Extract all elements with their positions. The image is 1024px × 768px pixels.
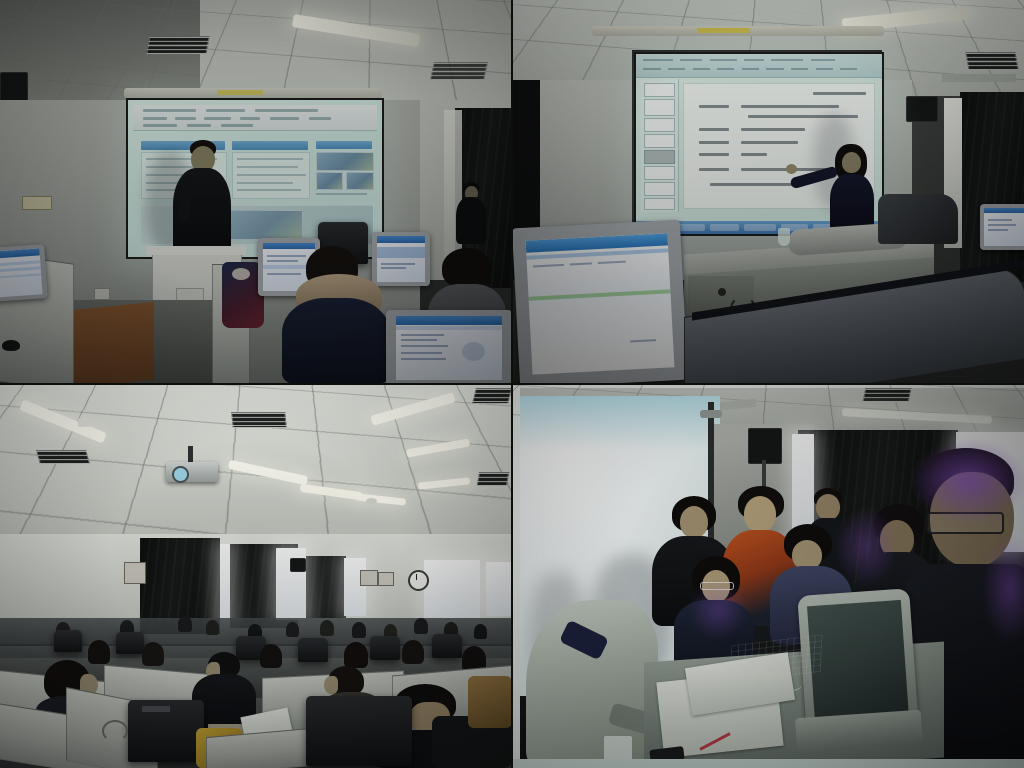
presenter-male: [170, 140, 232, 260]
standing-person-right: [455, 182, 487, 244]
text-line: [598, 261, 626, 264]
footer-thumbnail: [225, 210, 303, 240]
wood-floor-strip: [72, 302, 154, 384]
document-label: [699, 153, 729, 156]
text-line: [401, 339, 437, 341]
student-silhouette: [286, 622, 299, 637]
ceiling-vent-icon: [146, 36, 209, 54]
window-titlebar: [377, 236, 426, 242]
student-silhouette: [320, 620, 334, 636]
student-foreground-hooded: [282, 246, 392, 384]
head: [842, 152, 861, 173]
document-label: [699, 105, 729, 108]
photo-top-right: [512, 0, 1024, 384]
wall-socket-icon: [22, 196, 52, 210]
wall-socket-small-icon: [94, 288, 110, 300]
slide-thumbnail: [644, 134, 675, 148]
content-header-right: [232, 141, 308, 150]
torso: [526, 600, 658, 768]
ceiling-vent-icon: [231, 412, 287, 428]
wall-picture-frame: [124, 562, 146, 584]
ceiling-vent-strip: [942, 74, 1016, 82]
student-head: [402, 640, 424, 664]
foreground-monitor: [512, 220, 688, 384]
document-heading: [813, 92, 866, 95]
purple-rim-light-2: [982, 534, 1024, 644]
photo-frame-left: [512, 384, 520, 768]
window-icon: [486, 562, 512, 616]
crt-monitor-back: [298, 638, 328, 662]
hand: [786, 164, 797, 174]
document-label: [699, 128, 729, 131]
monitor-screen: [396, 316, 502, 380]
text-line: [988, 229, 1008, 231]
ceiling-vent-icon: [965, 52, 1018, 70]
monitor-screen: [526, 233, 674, 375]
text-line: [401, 334, 443, 336]
content-band: [0, 267, 41, 273]
text-line: [630, 339, 655, 342]
toolbar: [396, 326, 502, 330]
document-line: [741, 105, 840, 108]
purple-rim-light-4: [688, 580, 748, 640]
curtain-side: [306, 556, 346, 618]
ceiling-vent-2-icon: [430, 62, 488, 80]
side-monitor: [980, 204, 1024, 250]
text-line: [237, 182, 293, 184]
projection-screen-case: [124, 88, 382, 98]
student-silhouette: [206, 620, 219, 635]
projector-lens-icon: [172, 466, 189, 483]
browser-chrome: [133, 105, 377, 131]
slide-thumbnail: [644, 198, 675, 211]
mouse-icon: [2, 340, 20, 351]
text-line: [570, 263, 593, 266]
photo-frame-bottom: [512, 759, 1024, 768]
podium-top: [146, 246, 246, 255]
window-titlebar: [0, 249, 40, 259]
text-line: [533, 264, 564, 268]
ceiling-vent-icon: [863, 388, 912, 402]
text-line: [237, 174, 306, 176]
equipment-box: [878, 194, 958, 244]
smoke-detector-icon: [366, 498, 377, 504]
wall-picture-frame-3: [378, 572, 394, 586]
thumbnail-image: [346, 172, 373, 190]
crt-monitor-back: [370, 636, 400, 660]
monitor-screen: [984, 208, 1024, 247]
crt-monitor-foreground-right: [306, 696, 412, 766]
ceiling-vent-icon: [36, 450, 90, 464]
bag-tan: [468, 676, 512, 728]
student-head: [142, 642, 164, 666]
head: [680, 506, 708, 538]
slide-thumbnail: [644, 166, 675, 180]
wall-speaker-icon: [748, 428, 782, 464]
text-line: [237, 158, 303, 160]
text-line: [401, 358, 445, 360]
crt-monitor-back: [432, 634, 462, 658]
wall-clock-icon: [408, 570, 429, 591]
text-line: [401, 345, 448, 347]
student-silhouette: [352, 622, 366, 638]
form-logo-icon: [462, 342, 485, 361]
torso: [456, 197, 486, 244]
cabinet-handle-icon: [718, 288, 726, 296]
cable: [102, 720, 128, 742]
student-head: [344, 642, 368, 668]
thumbnail-image: [316, 172, 343, 190]
slide-thumbnail: [644, 99, 675, 116]
student-head: [260, 644, 282, 668]
ceiling-vent-icon: [477, 472, 509, 486]
student-silhouette: [178, 616, 192, 632]
photo-top-left: [0, 0, 512, 384]
text-line: [988, 224, 1016, 226]
torso: [282, 298, 390, 384]
curtain: [960, 92, 1024, 282]
photo-bottom-right: [512, 384, 1024, 768]
wall-picture-frame-2: [360, 570, 378, 586]
crt-monitor-back: [54, 630, 82, 652]
thumbnail-image: [316, 152, 374, 171]
document-line: [741, 141, 798, 144]
sidebar-header: [316, 141, 372, 149]
student-silhouette: [474, 624, 487, 639]
window-titlebar: [396, 316, 502, 325]
application-ribbon: [636, 54, 882, 78]
seam-horizontal: [0, 383, 1024, 385]
security-camera-icon: [78, 418, 90, 427]
window-icon: [344, 558, 366, 616]
window-icon: [424, 560, 480, 622]
document-label: [699, 168, 729, 171]
face-profile: [324, 676, 338, 694]
student-monitor-far-left: [0, 244, 48, 302]
slide-thumbnail: [644, 83, 675, 97]
monitor-screen: [0, 249, 43, 298]
text-line: [237, 166, 298, 168]
slide-thumbnail: [644, 118, 675, 132]
purple-rim-light-3: [834, 506, 898, 586]
content-band-green: [529, 290, 670, 301]
text-line: [237, 189, 301, 191]
screen-roller: [700, 410, 722, 418]
hair: [442, 248, 492, 288]
slide-thumbnail: [644, 182, 675, 196]
content-band: [0, 273, 42, 279]
document-line: [741, 153, 768, 156]
clock-hand-icon: [416, 574, 417, 580]
projection-screen-case: [592, 26, 884, 36]
document-line: [741, 128, 806, 131]
student-monitor-foreground: [386, 310, 512, 384]
window-titlebar: [984, 208, 1024, 213]
slide-thumbnail: [644, 150, 675, 164]
student-silhouette: [414, 618, 428, 634]
purple-rim-light: [910, 438, 1024, 524]
document-line: [710, 183, 794, 186]
wall-speaker-icon: [906, 96, 938, 122]
photo-collage: Male instructor standing at podium in fr…: [0, 0, 1024, 768]
backpack-logo-icon: [232, 268, 250, 280]
crt-monitor-back: [116, 632, 144, 654]
ceiling-vent-icon: [472, 388, 512, 404]
water-glass: [778, 228, 790, 246]
document-label: [699, 141, 729, 144]
monitor-brand-label: [142, 706, 170, 712]
text-line: [316, 193, 367, 195]
wall-speaker-icon: [290, 558, 306, 572]
window-icon: [220, 544, 230, 628]
outline-pane: [641, 79, 679, 212]
monitor-screen: [807, 600, 909, 724]
content-band: [0, 260, 41, 267]
text-line: [988, 219, 1012, 221]
text-line: [401, 352, 441, 354]
presenter-female: [818, 144, 878, 236]
photo-bottom-left: [0, 384, 512, 768]
